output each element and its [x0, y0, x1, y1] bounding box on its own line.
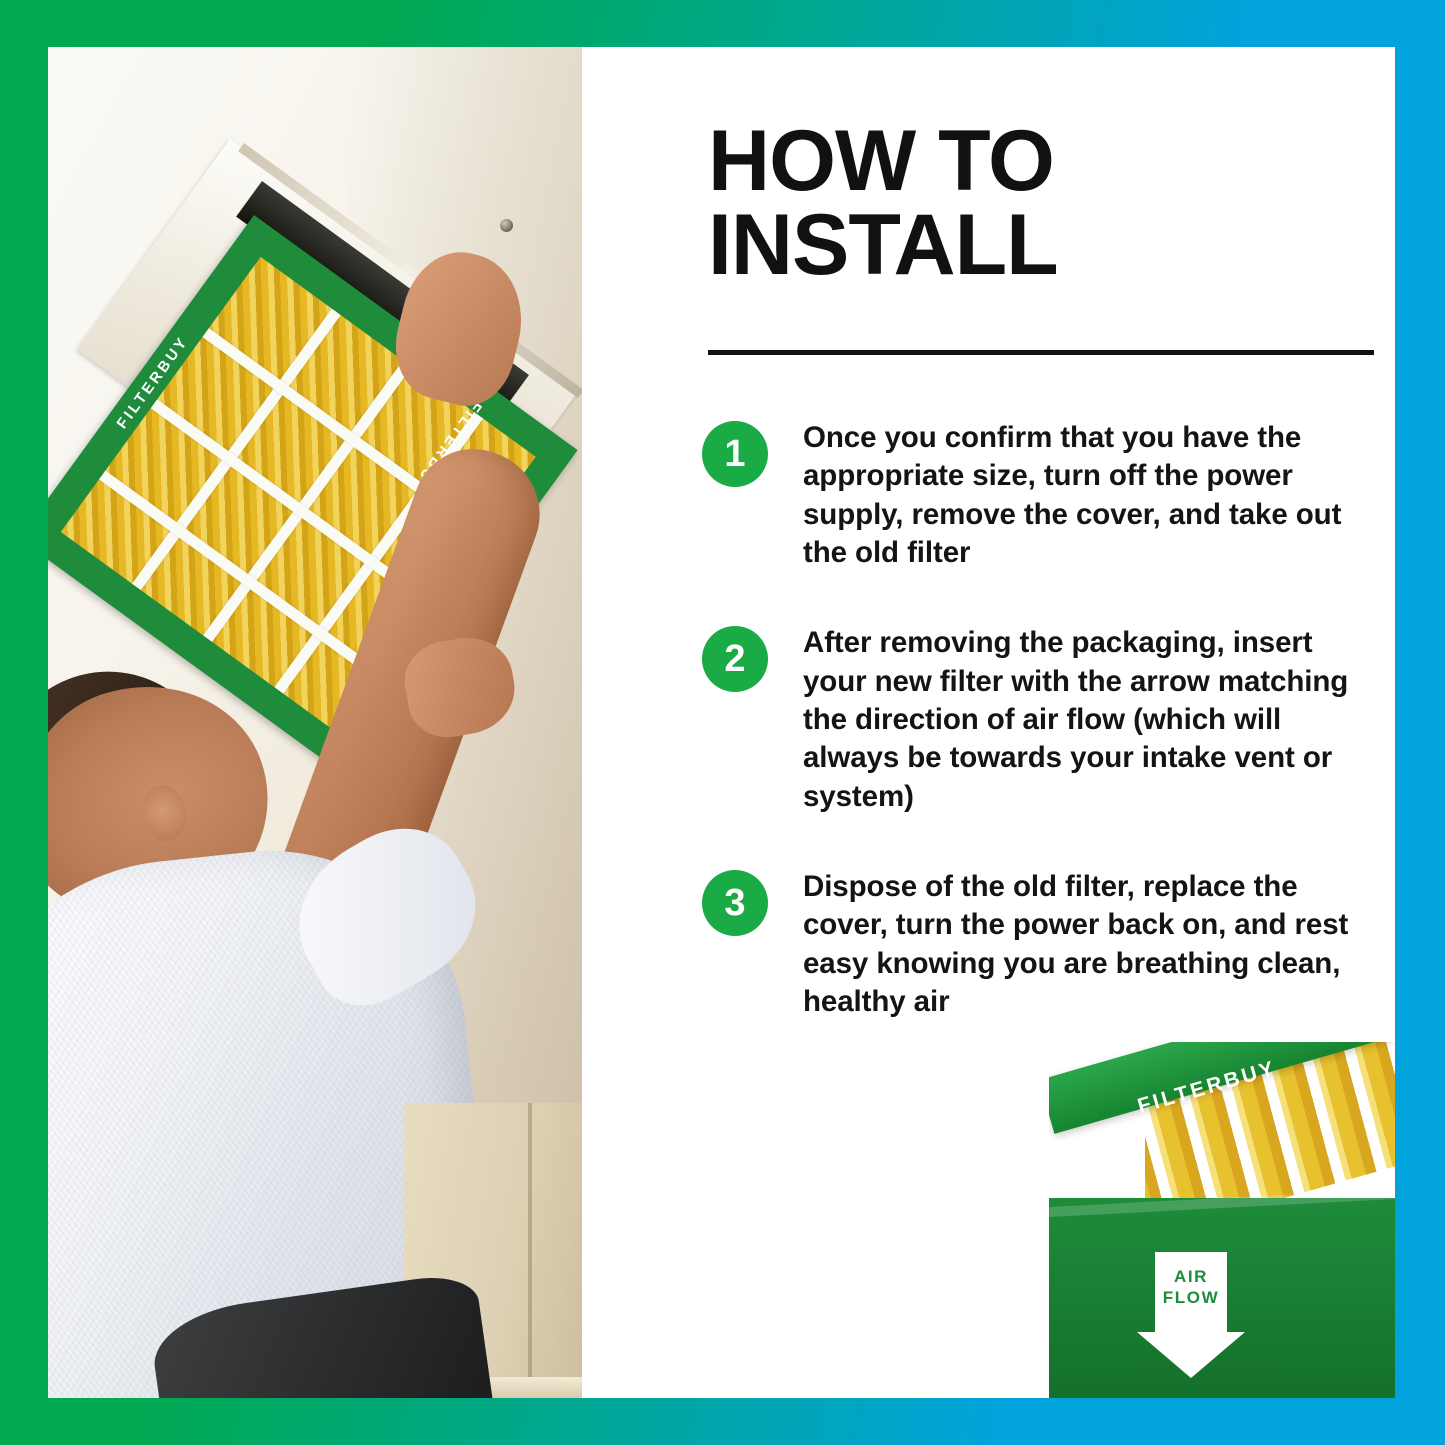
infographic-page: FILTERBUY FILTERBUY HOW TO: [0, 0, 1445, 1445]
air-flow-arrow-icon: AIR FLOW: [1137, 1252, 1245, 1378]
page-title-line-2: INSTALL: [708, 203, 1368, 287]
step-number-badge-1: 1: [702, 421, 768, 487]
content-column: HOW TO INSTALL 1 Once you confirm that y…: [582, 47, 1395, 1398]
air-flow-label-line-1: AIR: [1137, 1266, 1245, 1287]
door-seam: [528, 1103, 532, 1398]
step-text-2: After removing the packaging, insert you…: [803, 624, 1382, 816]
step-item-3: 3 Dispose of the old filter, replace the…: [702, 868, 1382, 1021]
step-number-badge-2: 2: [702, 626, 768, 692]
step-text-3: Dispose of the old filter, replace the c…: [803, 868, 1382, 1021]
steps-list: 1 Once you confirm that you have the app…: [702, 419, 1382, 1073]
arrow-head: [1137, 1332, 1245, 1378]
product-filter-image: FILTERBUY AIR FLOW: [1049, 1042, 1395, 1398]
step-text-1: Once you confirm that you have the appro…: [803, 419, 1382, 572]
vent-screw-icon: [500, 219, 513, 232]
air-flow-label: AIR FLOW: [1137, 1266, 1245, 1309]
inner-canvas: FILTERBUY FILTERBUY HOW TO: [48, 47, 1395, 1398]
title-divider: [708, 350, 1374, 355]
air-flow-label-line-2: FLOW: [1137, 1287, 1245, 1308]
step-item-1: 1 Once you confirm that you have the app…: [702, 419, 1382, 572]
step-item-2: 2 After removing the packaging, insert y…: [702, 624, 1382, 816]
install-photo: FILTERBUY FILTERBUY: [48, 47, 582, 1398]
page-title-line-1: HOW TO: [708, 119, 1368, 203]
page-title: HOW TO INSTALL: [708, 119, 1368, 288]
step-number-badge-3: 3: [702, 870, 768, 936]
